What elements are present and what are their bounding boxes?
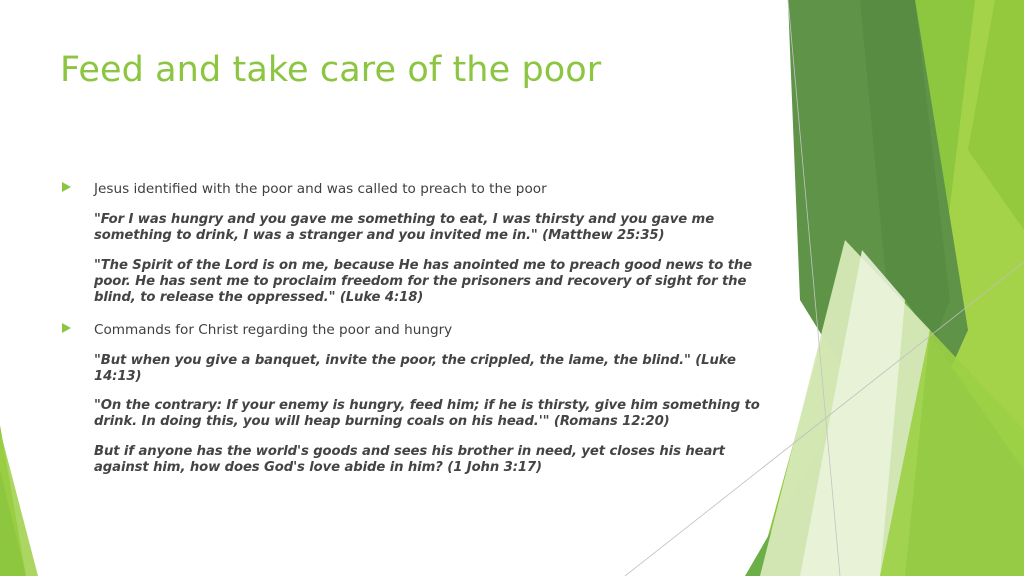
facet-shape-light-lime-right [905,0,1024,576]
facet-shape-bright-lime-base [757,0,1024,576]
facet-shape-mid-green-sweep [745,300,1024,576]
page-title: Feed and take care of the poor [60,50,750,90]
bullet-text: Jesus identified with the poor and was c… [94,181,547,197]
scripture-quote: But if anyone has the world's goods and … [60,444,778,476]
triangle-right-icon [62,323,71,333]
scripture-quote: "For I was hungry and you gave me someth… [60,212,778,244]
facet-shape-bright-strip-top [968,0,1024,230]
list-item: Commands for Christ regarding the poor a… [60,319,778,339]
facet-shape-deep-olive [860,0,950,430]
scripture-quote: "The Spirit of the Lord is on me, becaus… [60,258,778,306]
facet-shape-pale-band [760,240,930,576]
presentation-slide: Feed and take care of the poor Jesus ide… [0,0,1024,576]
scripture-quote: "On the contrary: If your enemy is hungr… [60,398,778,430]
hairline-diagonal-upper [788,0,840,576]
slide-body: Jesus identified with the poor and was c… [60,178,778,476]
bullet-text: Commands for Christ regarding the poor a… [94,322,452,338]
facet-shape-lime-overlay [880,330,1024,576]
list-item: Jesus identified with the poor and was c… [60,178,778,198]
facet-shape-dark-olive [788,0,968,470]
scripture-quote: "But when you give a banquet, invite the… [60,353,778,385]
facet-shape-left-wedge [0,425,26,576]
triangle-right-icon [62,182,71,192]
facet-shape-left-wedge-outer [0,430,38,576]
facet-shape-palest-sliver [800,250,905,576]
